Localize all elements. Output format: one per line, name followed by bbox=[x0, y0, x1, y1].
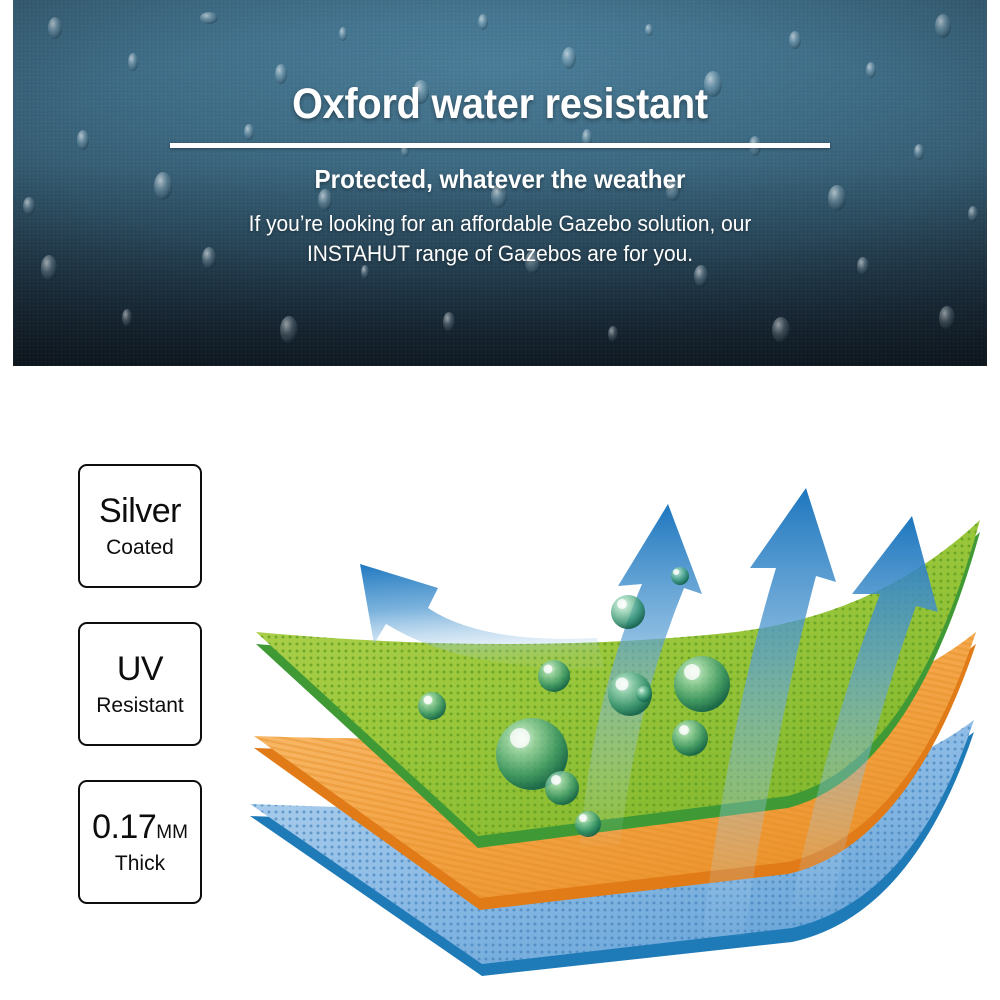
hero-body-text: If you’re looking for an affordable Gaze… bbox=[196, 195, 804, 269]
feature-badge-list: Silver Coated UV Resistant 0.17MM Thick bbox=[78, 464, 206, 938]
badge-unit-label: MM bbox=[156, 822, 188, 843]
badge-sub-label: Thick bbox=[115, 844, 165, 874]
hero-banner: Oxford water resistant Protected, whatev… bbox=[13, 0, 987, 366]
feature-badge-thickness: 0.17MM Thick bbox=[78, 780, 202, 904]
features-panel: Silver Coated UV Resistant 0.17MM Thick bbox=[0, 366, 1000, 1000]
hero-content: Oxford water resistant Protected, whatev… bbox=[13, 0, 987, 269]
badge-main-label: 0.17MM bbox=[92, 810, 188, 844]
badge-main-label: UV bbox=[117, 652, 163, 686]
feature-badge-silver-coated: Silver Coated bbox=[78, 464, 202, 588]
hero-title: Oxford water resistant bbox=[52, 0, 948, 126]
badge-main-label: Silver bbox=[99, 494, 181, 528]
feature-badge-uv-resistant: UV Resistant bbox=[78, 622, 202, 746]
badge-sub-label: Coated bbox=[106, 528, 174, 558]
badge-sub-label: Resistant bbox=[96, 686, 184, 716]
hero-subtitle: Protected, whatever the weather bbox=[47, 148, 953, 195]
fabric-layers-illustration bbox=[232, 376, 1000, 996]
